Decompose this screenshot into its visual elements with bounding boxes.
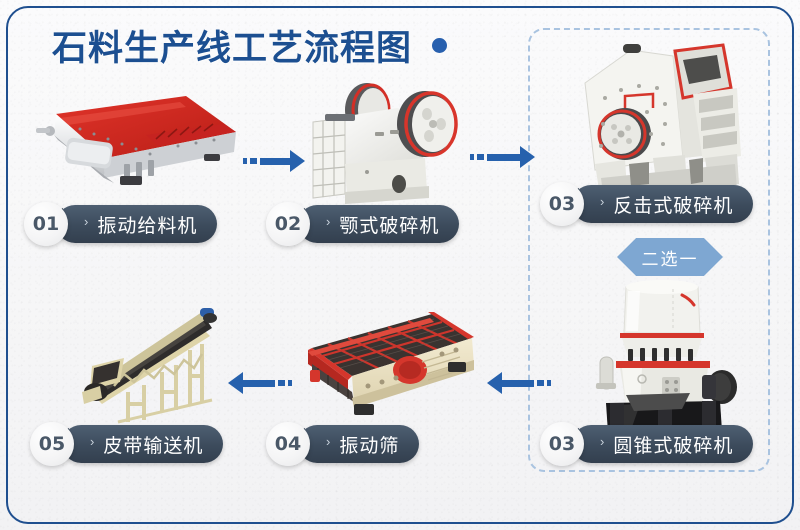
arrow-shaft [487, 154, 520, 161]
arrow-shaft [260, 158, 290, 165]
arrow-dot [243, 158, 247, 164]
step-bubble-04[interactable]: › 振动筛 [298, 425, 419, 463]
chevron-right-icon: › [600, 435, 604, 448]
step-label-02[interactable]: 02 › 颚式破碎机 [266, 202, 459, 246]
step-number-03-impact: 03 [540, 182, 584, 226]
step-name-02: 颚式破碎机 [339, 211, 439, 238]
step-name-01: 振动给料机 [97, 211, 197, 238]
step-bubble-03-cone[interactable]: › 圆锥式破碎机 [572, 425, 753, 463]
chevron-right-icon: › [326, 215, 330, 228]
arrow-head [228, 372, 243, 394]
arrow-crusher-to-screen [487, 372, 551, 394]
step-bubble-03-impact[interactable]: › 反击式破碎机 [572, 185, 753, 223]
arrow-jaw-to-crusher [470, 146, 535, 168]
cone-crusher-icon [570, 275, 755, 440]
arrow-dot [537, 380, 544, 386]
vibrating-feeder-icon [28, 88, 243, 198]
step-bubble-05[interactable]: › 皮带输送机 [62, 425, 223, 463]
title-dot-icon [432, 38, 447, 53]
arrow-head [487, 372, 502, 394]
step-number-02: 02 [266, 202, 310, 246]
vibrating-screen-icon [282, 308, 482, 428]
either-or-badge-label: 二选一 [642, 245, 699, 270]
step-label-05[interactable]: 05 › 皮带输送机 [30, 422, 223, 466]
arrow-feeder-to-jaw [243, 150, 305, 172]
arrow-dot [288, 380, 292, 386]
step-number-04: 04 [266, 422, 310, 466]
step-bubble-02[interactable]: › 颚式破碎机 [298, 205, 459, 243]
step-name-03-cone: 圆锥式破碎机 [613, 431, 733, 458]
either-or-badge: 二选一 [617, 238, 723, 276]
step-name-04: 振动筛 [339, 431, 399, 458]
chevron-right-icon: › [600, 195, 604, 208]
arrow-shaft [502, 380, 534, 387]
chevron-right-icon: › [326, 435, 330, 448]
step-bubble-01[interactable]: › 振动给料机 [56, 205, 217, 243]
arrow-dot [470, 154, 474, 160]
step-number-05: 05 [30, 422, 74, 466]
arrow-head [520, 146, 535, 168]
flowchart-canvas: 石料生产线工艺流程图 [0, 0, 800, 530]
step-label-03-impact[interactable]: 03 › 反击式破碎机 [540, 182, 753, 226]
arrow-shaft [243, 380, 275, 387]
arrow-screen-to-belt [228, 372, 292, 394]
arrow-dot [250, 158, 257, 164]
step-name-03-impact: 反击式破碎机 [613, 191, 733, 218]
chevron-right-icon: › [84, 215, 88, 228]
step-label-04[interactable]: 04 › 振动筛 [266, 422, 419, 466]
belt-conveyor-icon [62, 300, 262, 430]
jaw-crusher-icon [305, 72, 480, 207]
step-number-01: 01 [24, 202, 68, 246]
page-title: 石料生产线工艺流程图 [52, 20, 447, 71]
step-label-01[interactable]: 01 › 振动给料机 [24, 202, 217, 246]
chevron-right-icon: › [90, 435, 94, 448]
step-number-03-cone: 03 [540, 422, 584, 466]
arrow-dot [477, 154, 484, 160]
arrow-dot [547, 380, 551, 386]
arrow-dot [278, 380, 285, 386]
arrow-head [290, 150, 305, 172]
impact-crusher-icon [565, 38, 765, 198]
step-name-05: 皮带输送机 [103, 431, 203, 458]
page-title-text: 石料生产线工艺流程图 [52, 20, 412, 71]
step-label-03-cone[interactable]: 03 › 圆锥式破碎机 [540, 422, 753, 466]
